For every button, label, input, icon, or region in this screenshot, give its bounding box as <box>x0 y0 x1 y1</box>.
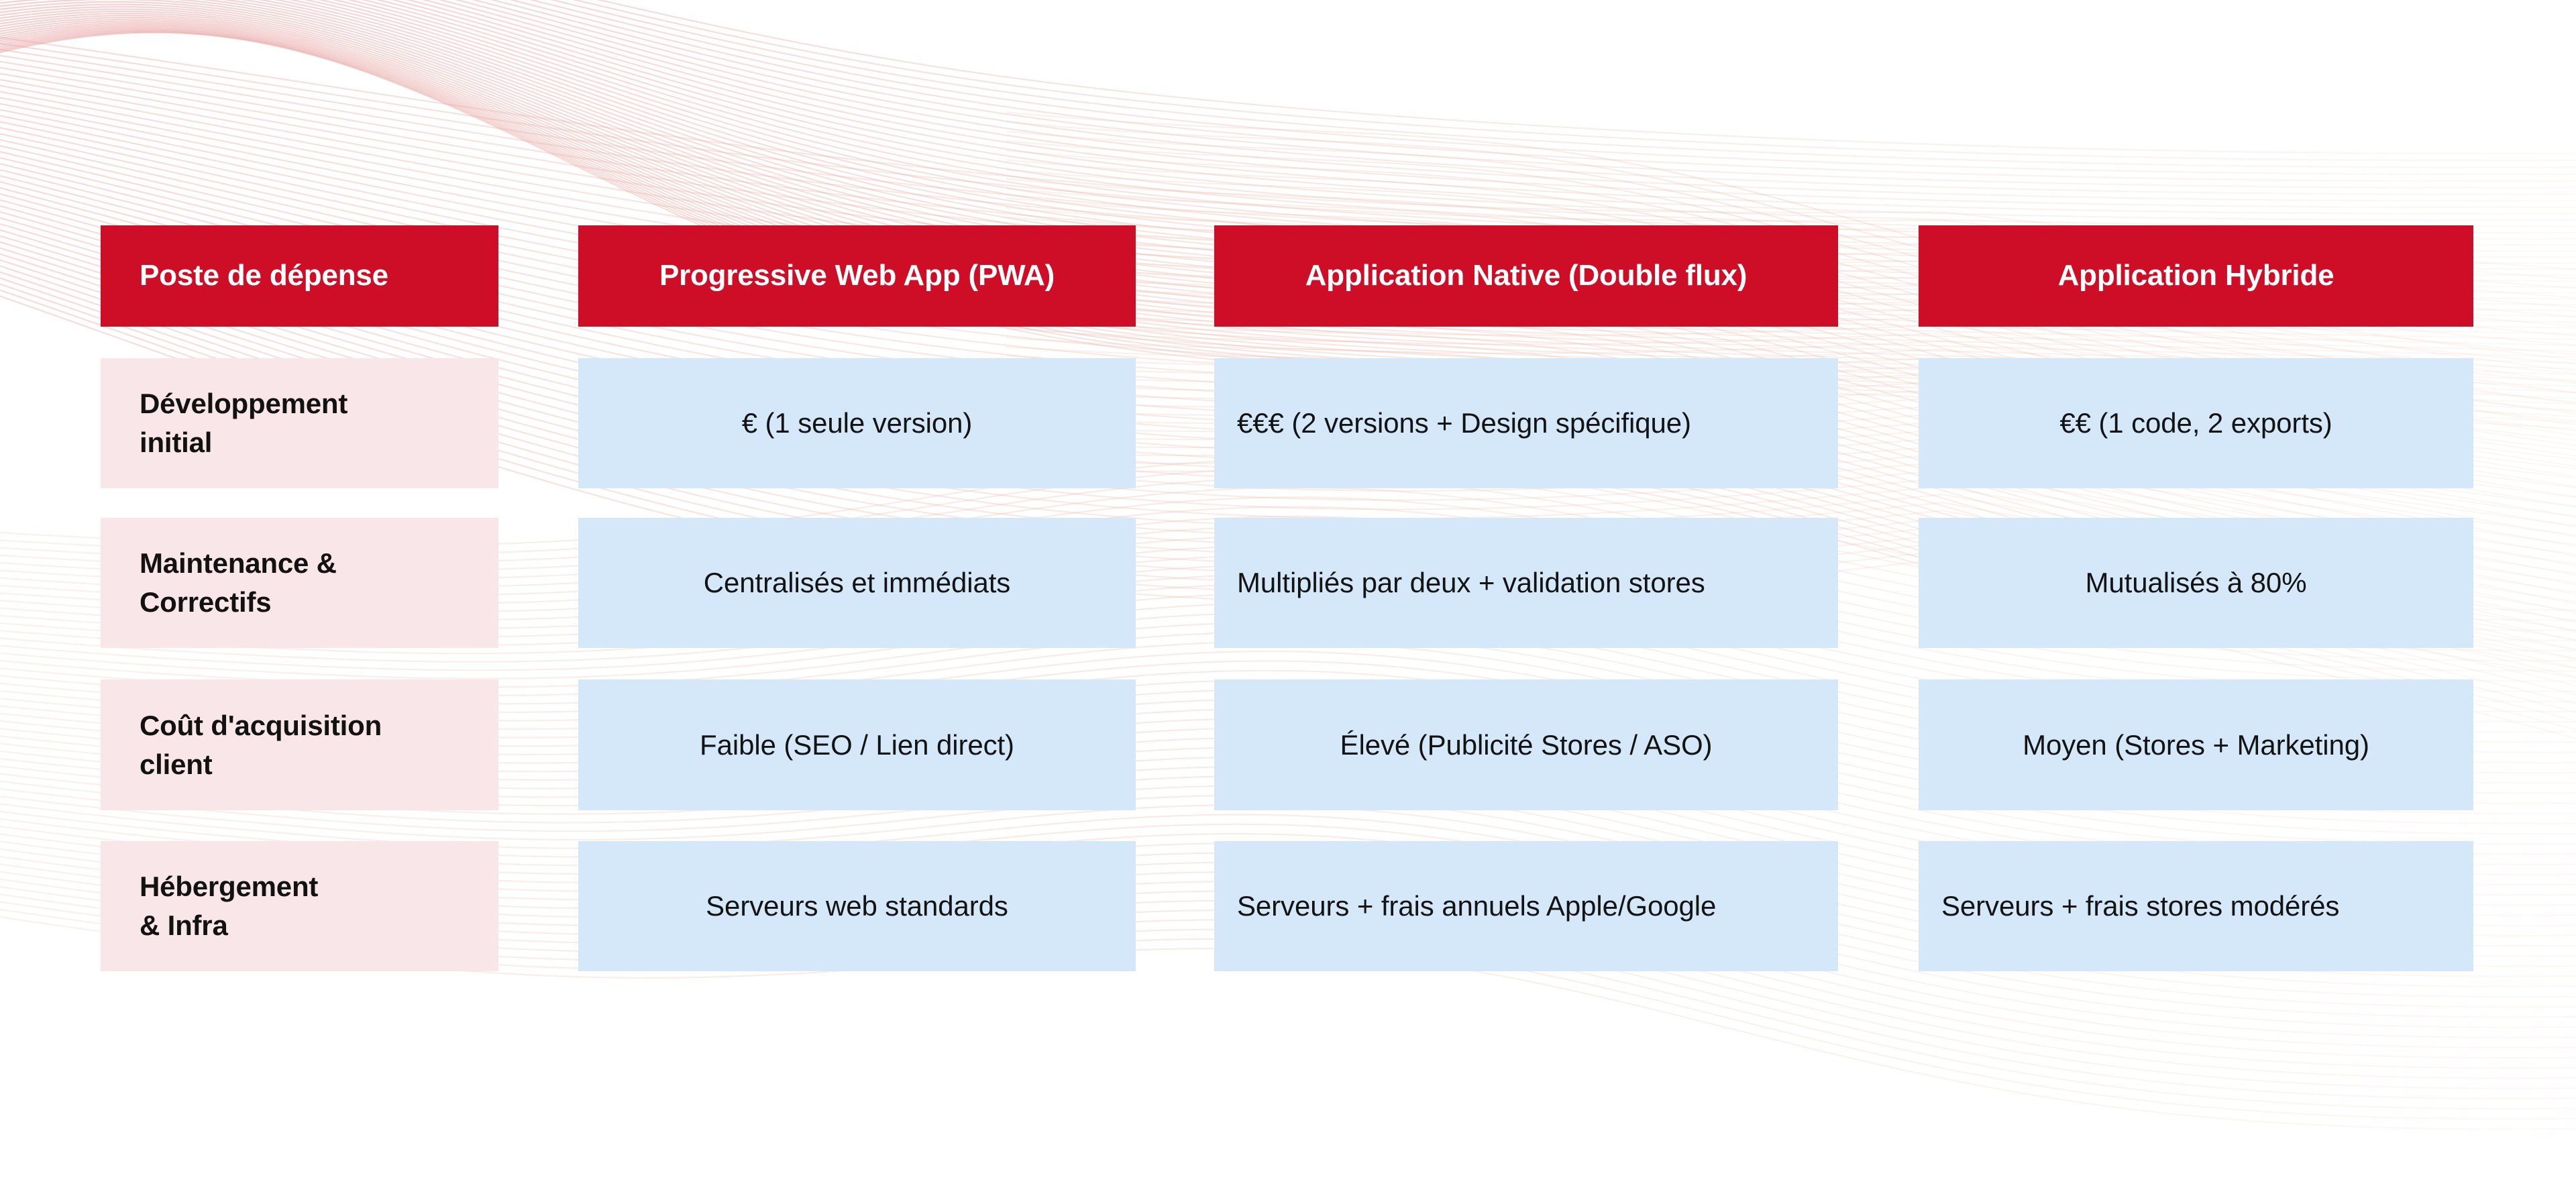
table-cell-text: €€€ (2 versions + Design spécifique) <box>1237 403 1815 443</box>
table-cell: Serveurs web standards <box>578 841 1136 971</box>
table-row-label: Coût d'acquisition client <box>101 679 498 810</box>
header-label-text: Progressive Web App (PWA) <box>659 258 1055 294</box>
table-cell-text: Multipliés par deux + validation stores <box>1237 563 1815 603</box>
table-cell: Élevé (Publicité Stores / ASO) <box>1214 679 1838 810</box>
row-label-text: Développement initial <box>140 384 347 462</box>
comparison-table: Poste de dépense Progressive Web App (PW… <box>0 0 2576 1202</box>
table-row-label: Maintenance & Correctifs <box>101 518 498 648</box>
row-label-text: Coût d'acquisition client <box>140 706 382 784</box>
table-cell: €€€ (2 versions + Design spécifique) <box>1214 358 1838 488</box>
table-cell-text: Serveurs web standards <box>601 886 1113 926</box>
table-cell: €€ (1 code, 2 exports) <box>1919 358 2473 488</box>
table-cell: Faible (SEO / Lien direct) <box>578 679 1136 810</box>
table-cell: Serveurs + frais annuels Apple/Google <box>1214 841 1838 971</box>
table-cell-text: Centralisés et immédiats <box>601 563 1113 603</box>
header-label-text: Poste de dépense <box>140 258 388 294</box>
header-label-text: Application Native (Double flux) <box>1305 258 1748 294</box>
table-header-application-native: Application Native (Double flux) <box>1214 225 1838 327</box>
header-label-text: Application Hybride <box>2058 258 2334 294</box>
table-cell: € (1 seule version) <box>578 358 1136 488</box>
table-cell-text: Serveurs + frais annuels Apple/Google <box>1237 886 1815 926</box>
table-cell-text: Faible (SEO / Lien direct) <box>601 725 1113 765</box>
table-cell-text: Moyen (Stores + Marketing) <box>1941 725 2451 765</box>
table-cell: Serveurs + frais stores modérés <box>1919 841 2473 971</box>
row-label-text: Hébergement & Infra <box>140 867 318 945</box>
table-row-label: Hébergement & Infra <box>101 841 498 971</box>
table-cell: Centralisés et immédiats <box>578 518 1136 648</box>
table-cell: Moyen (Stores + Marketing) <box>1919 679 2473 810</box>
table-cell-text: Serveurs + frais stores modérés <box>1941 886 2451 926</box>
table-row-label: Développement initial <box>101 358 498 488</box>
table-cell-text: € (1 seule version) <box>601 403 1113 443</box>
table-header-poste-de-depense: Poste de dépense <box>101 225 498 327</box>
table-header-application-hybride: Application Hybride <box>1919 225 2473 327</box>
table-header-pwa: Progressive Web App (PWA) <box>578 225 1136 327</box>
table-cell-text: Mutualisés à 80% <box>1941 563 2451 603</box>
table-cell-text: €€ (1 code, 2 exports) <box>1941 403 2451 443</box>
row-label-text: Maintenance & Correctifs <box>140 544 337 622</box>
table-cell: Multipliés par deux + validation stores <box>1214 518 1838 648</box>
table-cell-text: Élevé (Publicité Stores / ASO) <box>1237 725 1815 765</box>
table-cell: Mutualisés à 80% <box>1919 518 2473 648</box>
